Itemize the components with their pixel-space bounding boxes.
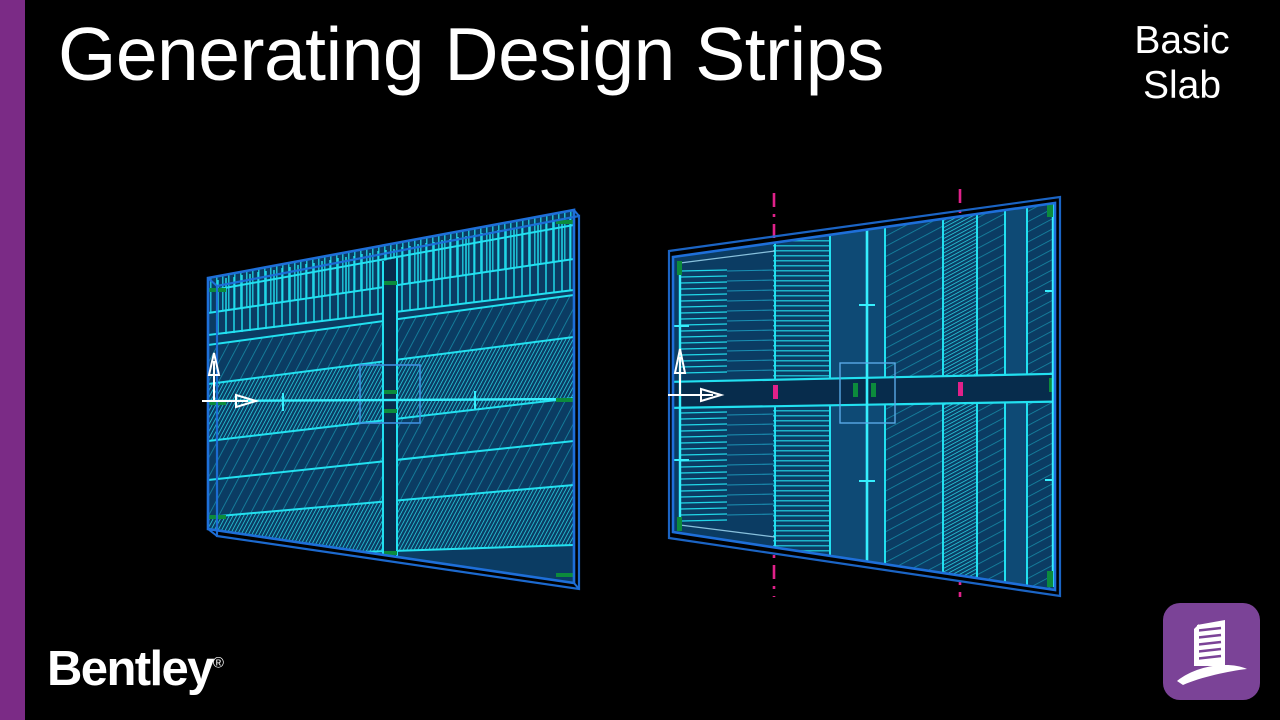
- slab-body: [200, 210, 580, 589]
- center-divider: [383, 258, 397, 573]
- registered-mark: ®: [213, 655, 224, 672]
- page-title: Generating Design Strips: [58, 14, 1038, 95]
- accent-bar: [0, 0, 25, 720]
- corner-label-line1: Basic: [1102, 18, 1262, 63]
- corner-label: Basic Slab: [1102, 18, 1262, 108]
- building-tower-icon: [1163, 603, 1260, 700]
- left-viewport[interactable]: [180, 185, 600, 605]
- corner-label-line2: Slab: [1102, 63, 1262, 108]
- right-viewport[interactable]: [655, 185, 1105, 605]
- app-badge[interactable]: [1163, 603, 1260, 700]
- bentley-wordmark-text: Bentley: [47, 642, 213, 696]
- design-strip-group: [200, 210, 580, 585]
- bentley-wordmark: Bentley®: [47, 645, 224, 694]
- slide-canvas: Generating Design Strips Basic Slab: [0, 0, 1280, 720]
